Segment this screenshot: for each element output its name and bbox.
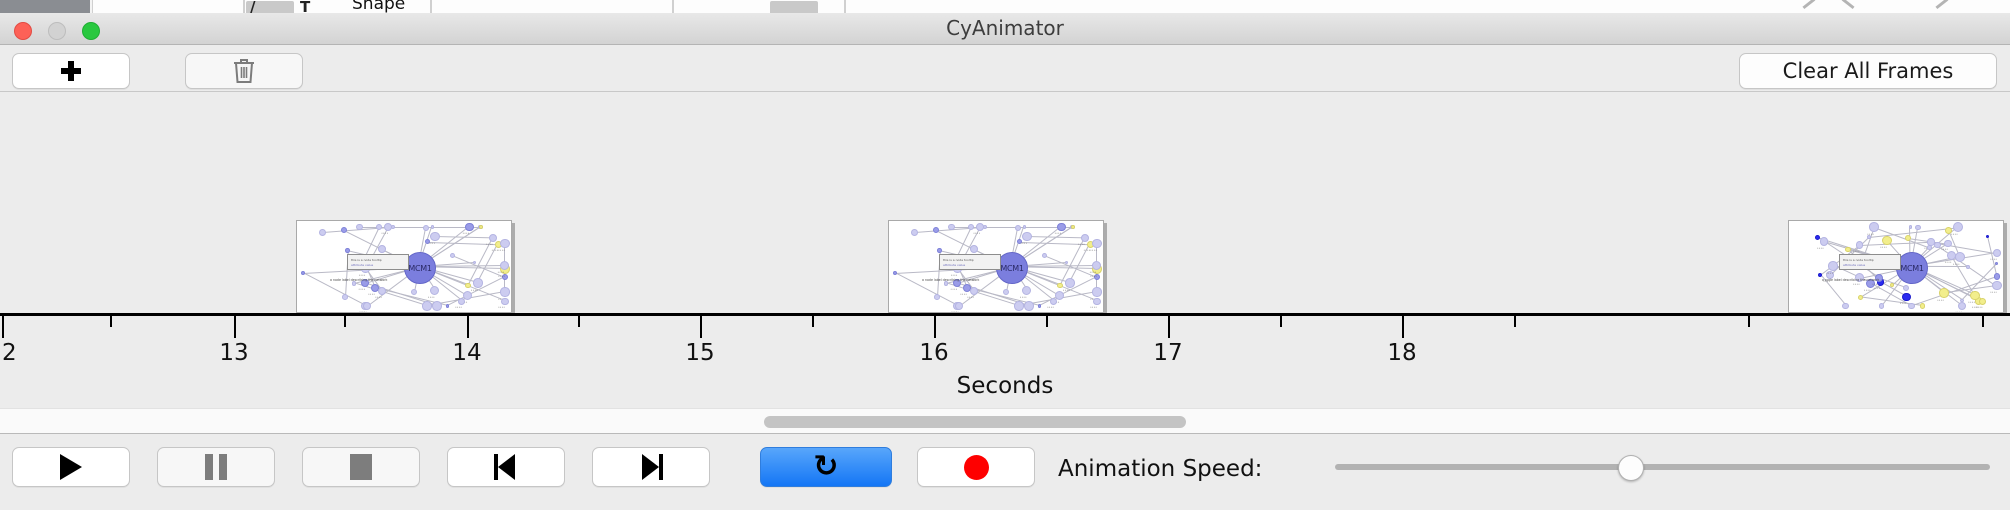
axis-tick-minor <box>110 316 112 327</box>
network-node <box>1979 298 1986 305</box>
network-node <box>479 225 484 230</box>
node-label: •••• <box>1090 248 1097 252</box>
cyanimator-window: / T Shape CyAnimator Clear All Frames <box>0 0 2010 510</box>
network-node <box>1934 242 1941 249</box>
skip-end-icon <box>639 454 663 480</box>
network-node <box>1022 232 1031 241</box>
animation-speed-label: Animation Speed: <box>1058 456 1262 482</box>
axis-tick-major <box>1168 316 1170 338</box>
timeline-scrollbar[interactable] <box>0 408 2010 434</box>
slider-thumb[interactable] <box>1618 455 1644 481</box>
axis-tick-minor <box>1046 316 1048 327</box>
network-node <box>1920 303 1926 309</box>
node-label: •••• <box>950 273 957 277</box>
node-tooltip: this is a node tooltipattribute value <box>347 254 409 270</box>
node-label: •••• <box>358 287 365 291</box>
network-node <box>934 294 940 300</box>
node-label: •••• <box>967 295 974 299</box>
network-node <box>422 301 431 310</box>
node-tooltip: this is a node tooltipattribute value <box>1839 254 1901 270</box>
network-node <box>1092 287 1101 296</box>
node-tooltip: this is a node tooltipattribute value <box>939 254 1001 270</box>
network-preview: ••••••••••••••••••••••••••••••••••••••••… <box>297 221 511 312</box>
axis-tick-minor <box>344 316 346 327</box>
skip-start-icon <box>494 454 518 480</box>
node-label: •••• <box>1089 270 1096 274</box>
stop-button[interactable] <box>302 447 420 487</box>
background-window-chunk <box>673 0 845 14</box>
skip-to-end-button[interactable] <box>592 447 710 487</box>
network-node <box>955 302 963 310</box>
network-node <box>473 278 482 287</box>
pause-icon <box>205 454 227 480</box>
node-label: •••• <box>1968 300 1975 304</box>
network-node <box>411 289 417 295</box>
network-node <box>1022 286 1031 295</box>
network-node <box>423 225 429 231</box>
skip-to-start-button[interactable] <box>447 447 565 487</box>
network-node <box>970 245 978 253</box>
network-node <box>1927 245 1932 250</box>
stop-icon <box>350 454 372 480</box>
network-node <box>970 287 978 295</box>
network-node <box>1958 302 1966 310</box>
node-label: •••• <box>462 231 469 235</box>
network-node <box>1994 273 2000 279</box>
network-node <box>948 224 955 231</box>
slider-track <box>1335 464 1990 470</box>
network-node <box>345 248 350 253</box>
network-node <box>501 298 508 305</box>
network-node <box>465 223 474 232</box>
background-window-chunk <box>431 0 673 14</box>
node-label: •••• <box>1817 246 1824 250</box>
network-node <box>500 287 509 296</box>
record-button[interactable] <box>917 447 1035 487</box>
network-node <box>432 301 441 310</box>
network-node <box>1845 247 1850 252</box>
network-node <box>378 245 386 253</box>
axis-tick-minor <box>1280 316 1282 327</box>
axis-tick-major <box>467 316 469 338</box>
network-node <box>1903 285 1909 291</box>
tooltip-line-1: this is a node tooltip <box>1843 258 1874 262</box>
node-label: •••• <box>1078 242 1085 246</box>
node-label: •••• <box>1063 288 1070 292</box>
network-node <box>1042 253 1047 258</box>
tooltip-line-1: this is a node tooltip <box>351 258 382 262</box>
network-node <box>1820 237 1829 246</box>
network-node <box>1003 289 1009 295</box>
network-node <box>1995 262 1998 265</box>
axis-tick-label: 13 <box>219 340 248 366</box>
frame-thumbnail[interactable]: ••••••••••••••••••••••••••••••••••••••••… <box>296 220 512 313</box>
background-dark-panel <box>0 0 90 13</box>
node-label: •••• <box>1853 282 1860 286</box>
loop-icon: ↻ <box>813 453 838 481</box>
network-node <box>1081 234 1090 243</box>
network-node <box>1828 261 1837 270</box>
node-label: •••• <box>1880 245 1887 249</box>
network-node <box>342 294 348 300</box>
network-node <box>937 248 942 253</box>
tooltip-line-2: attribute value <box>1843 263 1865 267</box>
node-label: •••• <box>1941 247 1948 251</box>
node-label: •••• <box>471 288 478 292</box>
network-node <box>1023 225 1026 228</box>
network-node <box>430 232 439 241</box>
network-node <box>1879 303 1884 308</box>
network-node <box>450 253 455 258</box>
network-node <box>1955 252 1965 262</box>
network-node <box>356 224 363 231</box>
tooltip-line-1: this is a node tooltip <box>943 258 974 262</box>
tooltip-line-2: attribute value <box>351 263 373 267</box>
axis-tick-minor <box>812 316 814 327</box>
axis-tick-major <box>700 316 702 338</box>
network-node <box>1869 222 1878 231</box>
network-node <box>1038 304 1042 308</box>
network-node <box>1909 225 1912 228</box>
node-label: •••• <box>498 305 505 309</box>
node-label: •••• <box>1853 249 1860 253</box>
network-node <box>1908 303 1915 310</box>
network-node <box>378 287 386 295</box>
node-label: •••• <box>1976 305 1983 309</box>
axis-tick-major <box>934 316 936 338</box>
axis-line <box>0 313 2010 316</box>
axis-tick-minor <box>578 316 580 327</box>
network-caption: a node label describing the network <box>330 278 387 282</box>
record-icon <box>964 455 989 480</box>
network-node <box>1024 301 1033 310</box>
network-caption: a node label describing the network <box>1822 278 1879 282</box>
node-label: •••• <box>358 273 365 277</box>
clear-all-frames-label: Clear All Frames <box>1783 59 1954 83</box>
node-label: •••• <box>455 305 462 309</box>
network-node <box>446 304 450 308</box>
loop-button[interactable]: ↻ <box>760 447 892 487</box>
node-label: •••• <box>1951 232 1958 236</box>
axis-tick-label: 12 <box>0 340 17 366</box>
node-label: •••• <box>375 295 382 299</box>
axis-tick-major <box>1402 316 1404 338</box>
node-label: •••• <box>381 231 388 235</box>
network-node <box>893 271 897 275</box>
node-label: •••• <box>1826 271 1833 275</box>
network-node <box>376 224 383 231</box>
node-label: •••• <box>1047 305 1054 309</box>
network-caption: a node label describing the network <box>922 278 979 282</box>
network-node <box>1065 278 1074 287</box>
background-glyph: / <box>250 0 255 14</box>
network-node <box>1856 241 1863 248</box>
axis-title: Seconds <box>0 373 2010 399</box>
network-node <box>1966 265 1970 269</box>
network-node <box>1986 235 1989 238</box>
network-node <box>1953 222 1963 232</box>
node-label: •••• <box>1937 298 1944 302</box>
node-label: •••• <box>973 231 980 235</box>
toolbar: Clear All Frames <box>0 45 2010 92</box>
node-label: •••• <box>486 242 493 246</box>
axis-tick-minor <box>1982 316 1984 327</box>
network-node <box>1882 236 1891 245</box>
node-label: •••• <box>1900 301 1907 305</box>
axis-tick-label: 18 <box>1387 340 1416 366</box>
frame-thumbnail[interactable]: ••••••••••••••••••••••••••••••••••••••••… <box>1788 220 2004 313</box>
play-button[interactable] <box>12 447 130 487</box>
background-glyph: T <box>300 0 310 14</box>
network-node <box>1944 240 1951 247</box>
node-label: •••• <box>1990 257 1997 261</box>
animation-speed-slider[interactable] <box>1335 447 1990 487</box>
network-node <box>391 225 395 229</box>
network-node <box>1858 295 1863 300</box>
node-label: •••• <box>1953 262 1960 266</box>
network-node <box>301 271 305 275</box>
playback-bar: ↻ Animation Speed: <box>0 434 2010 510</box>
node-label: •••• <box>1864 288 1871 292</box>
network-node <box>1092 239 1101 248</box>
background-window-chunk <box>92 0 244 14</box>
background-window-title: Shape <box>352 0 405 14</box>
axis-tick-major <box>2 316 4 338</box>
network-node <box>968 224 975 231</box>
tooltip-line-2: attribute value <box>943 263 965 267</box>
network-preview: ••••••••••••••••••••••••••••••••••••••••… <box>1789 221 2003 312</box>
node-label: •••• <box>1090 305 1097 309</box>
plus-icon <box>60 60 82 82</box>
network-node <box>1071 225 1076 230</box>
network-node <box>363 302 371 310</box>
network-node <box>1902 293 1910 301</box>
network-node <box>1015 225 1021 231</box>
network-node <box>1945 227 1952 234</box>
network-node <box>430 286 439 295</box>
clear-all-frames-button[interactable]: Clear All Frames <box>1739 53 1997 89</box>
titlebar: CyAnimator <box>0 13 2010 45</box>
network-node <box>1993 249 2001 257</box>
node-label: •••• <box>497 270 504 274</box>
network-node <box>431 225 434 228</box>
node-label: •••• <box>1020 241 1027 245</box>
frame-strip: ••••••••••••••••••••••••••••••••••••••••… <box>0 92 2010 313</box>
network-node <box>1939 288 1948 297</box>
axis-tick-major <box>234 316 236 338</box>
node-label: •••• <box>1867 232 1874 236</box>
network-preview: ••••••••••••••••••••••••••••••••••••••••… <box>889 221 1103 312</box>
network-node <box>1842 303 1848 309</box>
delete-frame-button[interactable] <box>185 53 303 89</box>
node-label: •••• <box>428 295 435 299</box>
window-title: CyAnimator <box>0 13 2010 44</box>
node-label: •••• <box>1054 231 1061 235</box>
network-node <box>500 239 509 248</box>
network-node <box>1093 298 1100 305</box>
network-node <box>319 229 326 236</box>
node-label: •••• <box>1990 290 1997 294</box>
background-windows-strip: / T Shape <box>0 0 2010 14</box>
node-label: •••• <box>428 241 435 245</box>
axis-tick-label: 16 <box>919 340 948 366</box>
network-node <box>1057 223 1066 232</box>
node-label: •••• <box>950 287 957 291</box>
node-label: •••• <box>498 248 505 252</box>
network-node <box>1014 301 1023 310</box>
trash-icon <box>232 57 256 85</box>
network-node <box>911 229 918 236</box>
axis-tick-minor <box>1514 316 1516 327</box>
scrollbar-thumb[interactable] <box>764 416 1186 428</box>
network-node <box>983 225 987 229</box>
axis-tick-label: 14 <box>452 340 481 366</box>
node-label: •••• <box>1945 260 1952 264</box>
node-label: •••• <box>1872 282 1879 286</box>
timeline-axis: 12131415161718 Seconds <box>0 313 2010 408</box>
axis-tick-label: 15 <box>685 340 714 366</box>
network-node <box>1890 283 1894 287</box>
play-icon <box>60 454 82 480</box>
network-node <box>489 234 498 243</box>
pause-button[interactable] <box>157 447 275 487</box>
frame-thumbnail[interactable]: ••••••••••••••••••••••••••••••••••••••••… <box>888 220 1104 313</box>
axis-tick-label: 17 <box>1153 340 1182 366</box>
network-node <box>1915 225 1920 230</box>
network-node <box>1992 281 2002 291</box>
node-label: •••• <box>1020 295 1027 299</box>
add-frame-button[interactable] <box>12 53 130 89</box>
axis-tick-minor <box>1748 316 1750 327</box>
